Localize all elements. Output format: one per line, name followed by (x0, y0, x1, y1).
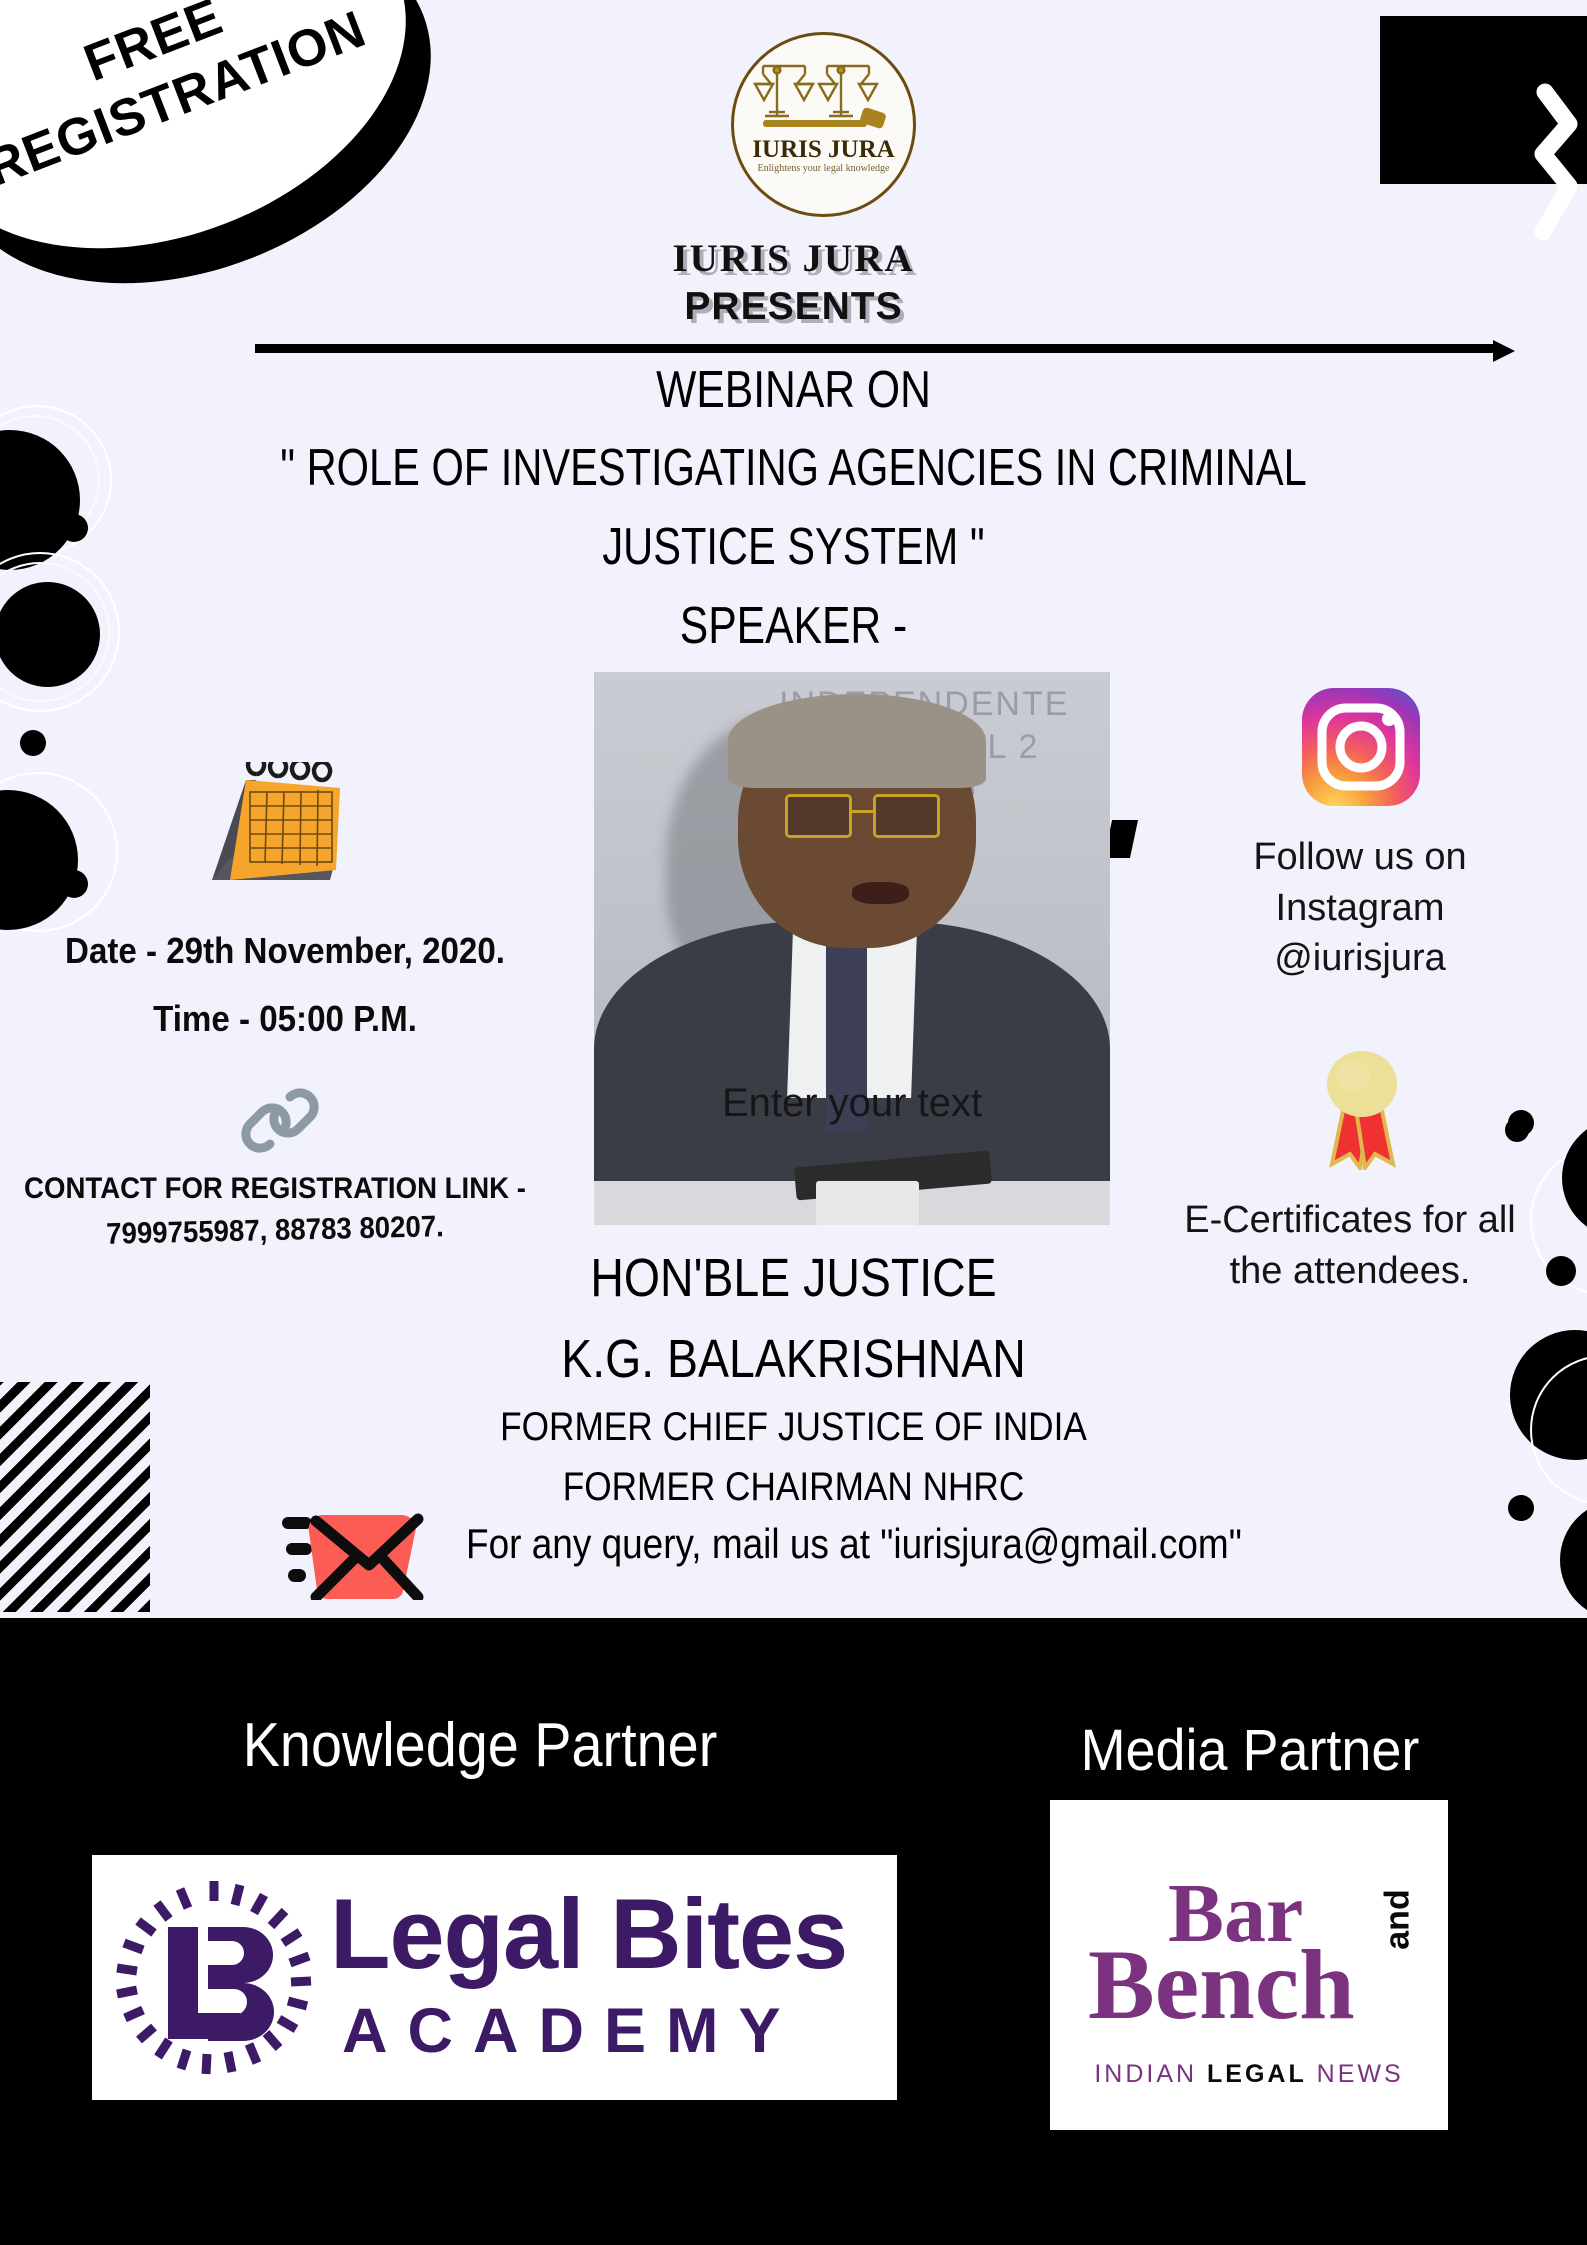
dot-decoration-6 (1508, 1495, 1534, 1521)
knowledge-partner-title: Knowledge Partner (134, 1710, 827, 1781)
bar-bench-tagline: INDIAN LEGAL NEWS (1050, 2060, 1448, 2089)
logo-circle: IURIS JURA Enlightens your legal knowled… (731, 32, 916, 217)
legal-bites-academy-label: ACADEMY (342, 1995, 801, 2067)
logo-tagline: Enlightens your legal knowledge (749, 163, 899, 174)
logo-inner: IURIS JURA Enlightens your legal knowled… (749, 50, 899, 200)
event-date: Date - 29th November, 2020. (23, 930, 547, 972)
free-registration-badge: FREE REGISTRATION (0, 0, 500, 390)
circle-decoration-4 (1562, 1118, 1587, 1238)
and-conjunction: and (1379, 1889, 1418, 1949)
photo-glasses-left (785, 794, 852, 838)
ring-decoration-5 (0, 772, 118, 932)
tagline-post: NEWS (1307, 2060, 1404, 2088)
contact-label: CONTACT FOR REGISTRATION LINK - (22, 1172, 528, 1206)
webinar-poster: FREE REGISTRATION (0, 0, 1587, 2245)
speaker-name: K.G. BALAKRISHNAN (111, 1328, 1476, 1390)
legal-bites-monogram-icon (112, 1875, 317, 2080)
header-arrow-divider-icon (255, 340, 1515, 362)
instagram-follow-text: Follow us on Instagram @iurisjura (1195, 832, 1525, 984)
logo-name: IURIS JURA (749, 136, 899, 164)
tagline-pre: INDIAN (1094, 2060, 1207, 2088)
circle-decoration-2 (0, 582, 100, 687)
circle-decoration-3 (0, 790, 78, 930)
instagram-icon[interactable] (1300, 686, 1422, 808)
ring-decoration-3 (0, 552, 120, 712)
dot-decoration-1 (60, 514, 88, 542)
ring-decoration-4 (0, 562, 110, 702)
legal-bites-wordmark: Legal Bites (330, 1877, 847, 1991)
bar-and-bench-logo: Bar and Bench INDIAN LEGAL NEWS (1050, 1800, 1448, 2130)
speaker-photo: INDEPENDENTE NO BRASIL 2 enário Enter yo… (594, 672, 1110, 1225)
certificate-line-1: E-Certificates for all (1175, 1195, 1525, 1246)
presents-label: PRESENTS (0, 285, 1587, 329)
ring-decoration-7 (1530, 1355, 1587, 1505)
media-partner-title: Media Partner (1018, 1717, 1483, 1784)
webinar-kicker: WEBINAR ON (143, 360, 1444, 420)
zigzag-decoration-icon (1507, 82, 1587, 242)
speaker-designation-2: FORMER CHAIRMAN NHRC (95, 1465, 1492, 1510)
scales-of-justice-icon (749, 50, 899, 200)
follow-line-2: Instagram (1195, 883, 1525, 934)
certificate-text: E-Certificates for all the attendees. (1175, 1195, 1525, 1296)
circle-decoration-6 (1560, 1500, 1587, 1620)
speaker-label: SPEAKER - (143, 596, 1444, 656)
photo-placeholder-text: Enter your text (594, 1081, 1110, 1126)
certificate-medal-icon (1310, 1040, 1415, 1170)
email-envelope-icon (282, 1505, 452, 1600)
webinar-topic-line-2: JUSTICE SYSTEM " (159, 517, 1429, 577)
dot-decoration-2 (20, 730, 46, 756)
dot-decoration-5 (1546, 1256, 1576, 1286)
photo-hair (728, 694, 986, 788)
email-query-text[interactable]: For any query, mail us at "iurisjura@gma… (466, 1520, 1242, 1568)
follow-line-1: Follow us on (1195, 832, 1525, 883)
circle-decoration-1 (0, 430, 80, 570)
certificate-line-2: the attendees. (1175, 1246, 1525, 1297)
photo-mouth (852, 882, 909, 904)
photo-glasses-right (873, 794, 940, 838)
photo-glasses-bridge (852, 810, 873, 813)
brand-title: IURIS JURA (0, 236, 1587, 281)
photo-microphone-2 (816, 1181, 919, 1225)
calendar-icon (190, 762, 350, 892)
event-time: Time - 05:00 P.M. (23, 998, 547, 1040)
instagram-handle[interactable]: @iurisjura (1195, 933, 1525, 984)
dot-decoration-4 (1508, 1110, 1534, 1136)
iuris-jura-logo: IURIS JURA Enlightens your legal knowled… (731, 32, 916, 217)
top-right-black-rectangle (1380, 16, 1587, 184)
speaker-designation-1: FORMER CHIEF JUSTICE OF INDIA (95, 1405, 1492, 1450)
dot-decoration-3 (60, 870, 88, 898)
ring-decoration-2 (0, 415, 100, 545)
bench-wordmark: Bench (1088, 1942, 1355, 2028)
webinar-topic-line-1: " ROLE OF INVESTIGATING AGENCIES IN CRIM… (159, 438, 1429, 498)
legal-bites-logo: Legal Bites ACADEMY (92, 1855, 897, 2100)
link-chain-icon (235, 1083, 325, 1158)
tagline-bold: LEGAL (1207, 2060, 1307, 2088)
dot-decoration-7 (1505, 1118, 1529, 1142)
circle-decoration-5 (1510, 1330, 1587, 1460)
ring-decoration-6 (1530, 1145, 1587, 1295)
ring-decoration-1 (0, 405, 112, 555)
